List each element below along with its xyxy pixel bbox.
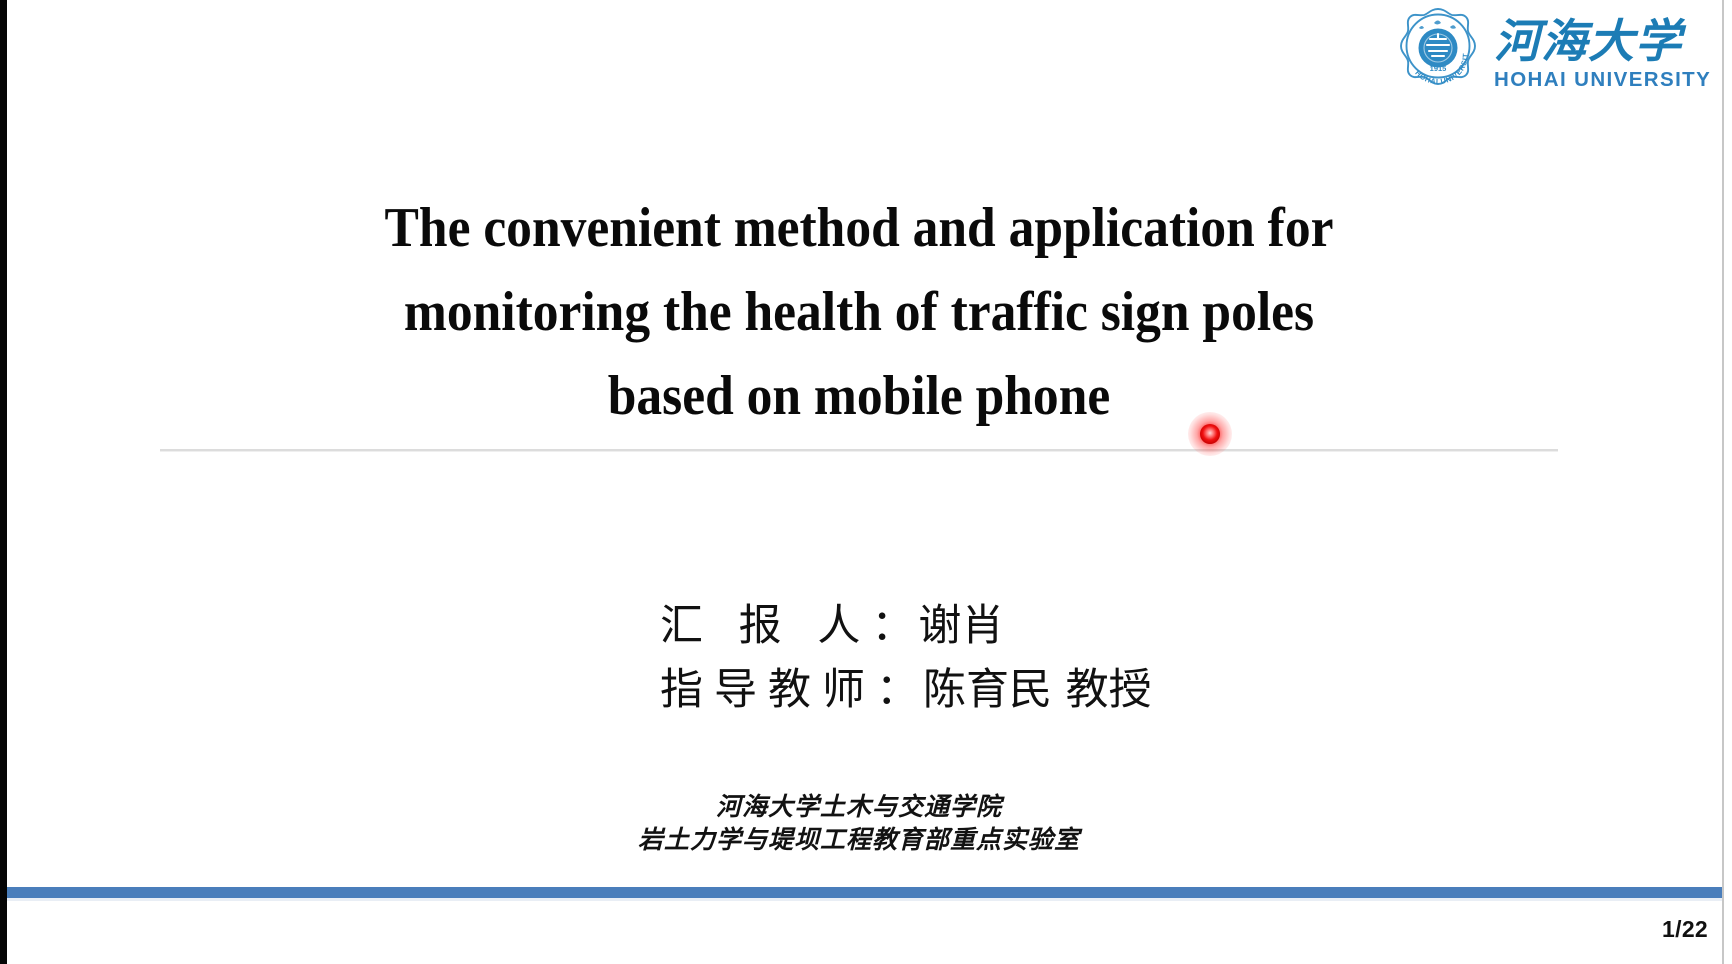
slide-title-line-3: based on mobile phone	[216, 354, 1502, 438]
presenter-colon-advisor: ：	[876, 665, 923, 715]
presenter-label-advisor: 指导教师	[660, 665, 876, 715]
svg-text:1915: 1915	[1430, 64, 1447, 73]
slide-title-line-2: monitoring the health of traffic sign po…	[216, 270, 1502, 354]
screen-right-margin	[1724, 0, 1732, 964]
logo-wordmark-chinese: 河海大学	[1494, 15, 1682, 67]
slide-title: The convenient method and application fo…	[160, 186, 1558, 438]
affiliation-line-2: 岩土力学与堤坝工程教育部重点实验室	[160, 823, 1558, 856]
page-number-indicator: 1/22	[1662, 916, 1708, 943]
logo-wordmark-english: HOHAI UNIVERSITY	[1494, 68, 1711, 92]
footer-accent-bar	[7, 887, 1722, 898]
laser-pointer-dot	[1200, 424, 1220, 444]
affiliation-info: 河海大学土木与交通学院 岩土力学与堤坝工程教育部重点实验室	[160, 790, 1558, 856]
footer-accent-bar-shadow	[7, 898, 1722, 901]
screen-left-edge	[0, 0, 7, 964]
presenter-colon-speaker: ：	[871, 601, 918, 651]
hohai-university-seal-icon: 1915 HOHAI UNIVERSITY	[1392, 6, 1484, 98]
presenter-row-advisor: 指导教师：陈育民 教授	[660, 658, 1152, 722]
presenter-info: 汇 报 人：谢肖 指导教师：陈育民 教授	[660, 594, 1152, 722]
affiliation-line-1: 河海大学土木与交通学院	[160, 790, 1558, 823]
presentation-slide: 1915 HOHAI UNIVERSITY 河海大学 HOHAI UNIVERS…	[0, 0, 1732, 964]
hohai-university-logo: 1915 HOHAI UNIVERSITY 河海大学 HOHAI UNIVERS…	[1392, 4, 1722, 100]
slide-title-line-1: The convenient method and application fo…	[216, 186, 1502, 270]
presenter-label-speaker: 汇 报 人	[660, 601, 871, 651]
presenter-value-advisor: 陈育民 教授	[923, 665, 1152, 715]
title-divider	[160, 449, 1558, 451]
logo-wordmark: 河海大学 HOHAI UNIVERSITY	[1494, 13, 1711, 92]
presenter-row-speaker: 汇 报 人：谢肖	[660, 594, 1152, 658]
presenter-value-speaker: 谢肖	[918, 601, 1004, 651]
